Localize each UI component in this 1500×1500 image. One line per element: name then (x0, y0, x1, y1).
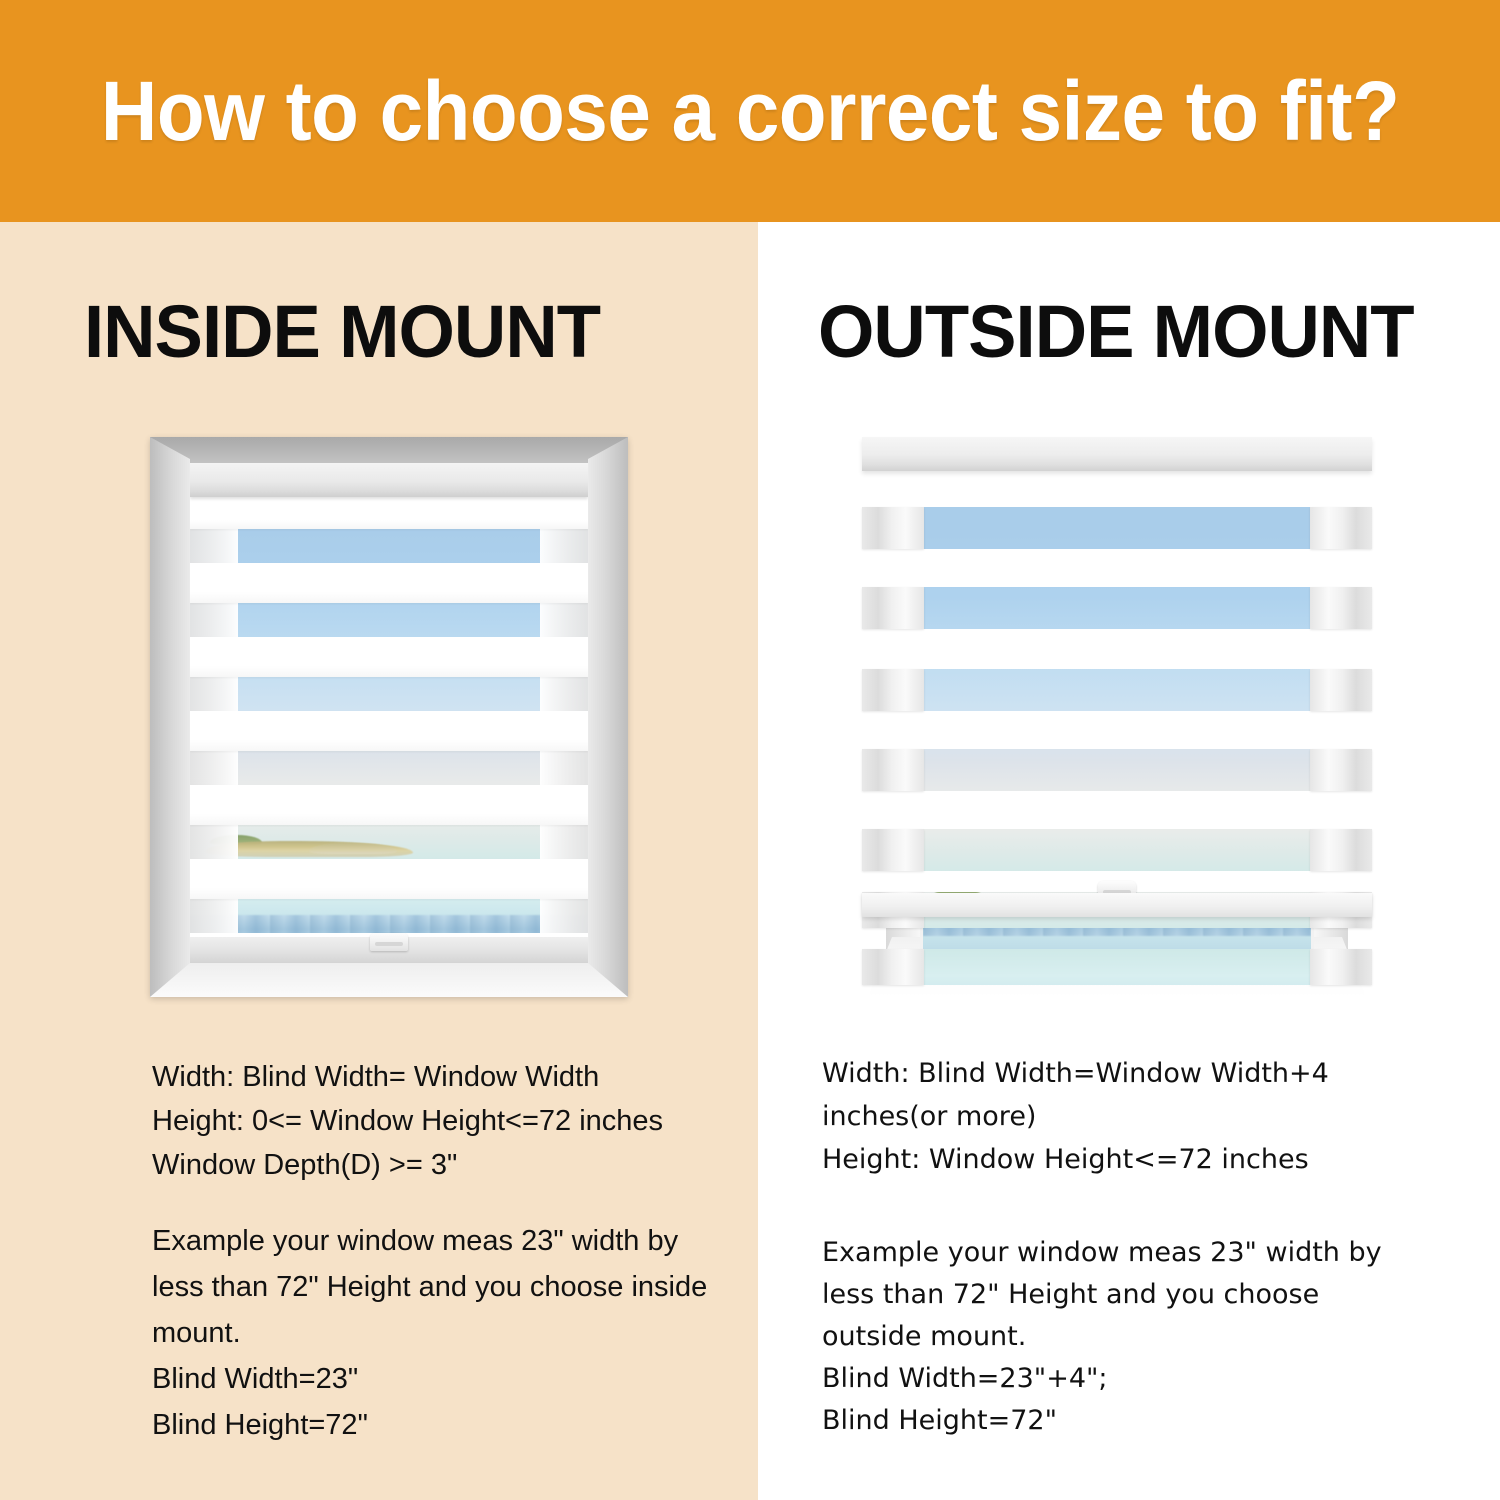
inside-mount-spec-list: Width: Blind Width= Window Width Height:… (152, 1055, 663, 1187)
inside-mount-heading: INSIDE MOUNT (84, 289, 600, 374)
blind-solid-band (190, 637, 588, 677)
blind-side-strip (190, 899, 238, 933)
page-title: How to choose a correct size to fit? (101, 63, 1399, 160)
spec-line: Width: Blind Width= Window Width (152, 1055, 663, 1099)
blind-side-strip (540, 899, 588, 933)
window-frame-top-jamb (150, 437, 628, 463)
blind-overhang-left (862, 587, 924, 629)
inside-mount-window-diagram (150, 437, 628, 997)
view-island (309, 843, 397, 854)
blind-solid-band (190, 497, 588, 529)
blind-overhang-left (862, 749, 924, 791)
window-frame-sill (150, 963, 628, 997)
window-latch-handle[interactable] (370, 933, 408, 951)
blind-overhang-left (862, 669, 924, 711)
window-frame-left-jamb (150, 437, 190, 997)
blind-side-strip (190, 677, 238, 711)
blind-open-band (862, 949, 1372, 985)
spec-line: Height: 0<= Window Height<=72 inches (152, 1099, 663, 1143)
example-line: outside mount. (822, 1316, 1382, 1358)
spec-line: inches(or more) (822, 1095, 1329, 1138)
blind-side-strip (540, 825, 588, 859)
blind-overhang-right (1310, 507, 1372, 549)
example-line: Example your window meas 23" width by (822, 1232, 1382, 1274)
blind-open-band (862, 587, 1372, 629)
blind-band-view (920, 829, 1314, 871)
blind-side-strip (190, 529, 238, 563)
blind-overhang-left (862, 949, 924, 985)
blind-side-strip (190, 751, 238, 785)
blind-bottom-rail (862, 893, 1372, 917)
blind-overhang-left (862, 829, 924, 871)
inside-mount-blind (190, 463, 588, 963)
blind-side-strip (540, 603, 588, 637)
blind-headrail (190, 463, 588, 497)
blind-band-view (920, 507, 1314, 549)
blind-side-strip (190, 603, 238, 637)
outside-mount-spec-list: Width: Blind Width=Window Width+4 inches… (822, 1052, 1329, 1181)
blind-overhang-right (1310, 587, 1372, 629)
example-line: Blind Width=23" (152, 1356, 707, 1402)
blind-side-strip (540, 751, 588, 785)
example-line: Blind Width=23"+4"; (822, 1358, 1382, 1400)
blind-band-view (920, 587, 1314, 629)
spec-line: Window Depth(D) >= 3" (152, 1143, 663, 1187)
blind-solid-band (190, 785, 588, 825)
spec-line: Width: Blind Width=Window Width+4 (822, 1052, 1329, 1095)
blind-band-view (920, 749, 1314, 791)
blind-solid-band (190, 859, 588, 899)
blind-solid-band (190, 711, 588, 751)
outside-mount-heading: OUTSIDE MOUNT (818, 289, 1414, 374)
blind-side-strip (540, 677, 588, 711)
example-line: Blind Height=72" (152, 1402, 707, 1448)
blind-open-band (862, 749, 1372, 791)
blind-side-strip (540, 529, 588, 563)
example-line: Example your window meas 23" width by (152, 1218, 707, 1264)
blind-headrail (862, 437, 1372, 471)
blind-overhang-left (862, 507, 924, 549)
blind-overhang-right (1310, 829, 1372, 871)
blind-band-view (920, 949, 1314, 985)
window-frame-right-jamb (588, 437, 628, 997)
blind-overhang-right (1310, 749, 1372, 791)
outside-mount-example-text: Example your window meas 23" width by le… (822, 1232, 1382, 1442)
blind-open-band (862, 669, 1372, 711)
blind-solid-band (190, 563, 588, 603)
header-banner: How to choose a correct size to fit? (0, 0, 1500, 222)
example-line: mount. (152, 1310, 707, 1356)
example-line: less than 72" Height and you choose (822, 1274, 1382, 1316)
example-line: Blind Height=72" (822, 1400, 1382, 1442)
blind-open-band (862, 829, 1372, 871)
blind-overhang-right (1310, 669, 1372, 711)
example-line: less than 72" Height and you choose insi… (152, 1264, 707, 1310)
spec-line: Height: Window Height<=72 inches (822, 1138, 1329, 1181)
blind-overhang-right (1310, 949, 1372, 985)
blind-open-band (862, 507, 1372, 549)
blind-side-strip (190, 825, 238, 859)
blind-band-view (920, 669, 1314, 711)
outside-mount-window-diagram (862, 437, 1372, 997)
inside-mount-example-text: Example your window meas 23" width by le… (152, 1218, 707, 1448)
